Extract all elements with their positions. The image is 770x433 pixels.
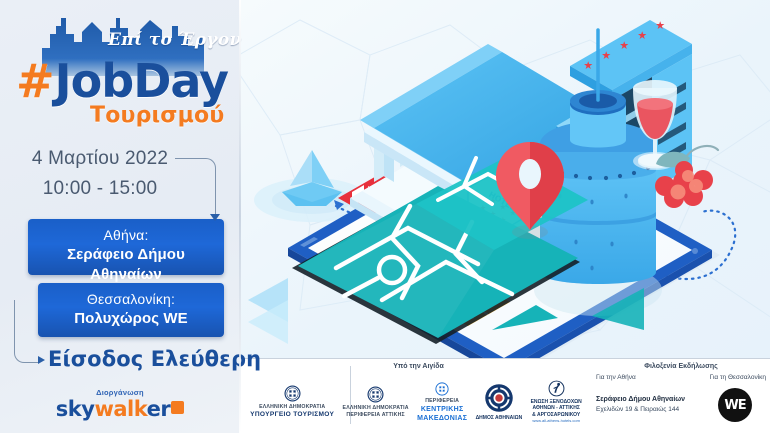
jobday-logo: Επί το Έργον #JobDay Τουρισμού xyxy=(12,8,228,130)
panel-divider xyxy=(239,0,241,433)
host-athens-label: Για την Αθήνα xyxy=(596,374,636,381)
organiser-label: Διοργάνωση xyxy=(0,388,240,397)
logo-name: JobDay xyxy=(55,54,228,108)
sponsor-line1: ΕΛΛΗΝΙΚΗ ΔΗΜΟΚΡΑΤΙΑ xyxy=(259,404,325,411)
city-of-athens-crest-icon xyxy=(484,383,514,413)
left-info-panel: Επί το Έργον #JobDay Τουρισμού 4 Μαρτίου… xyxy=(0,0,240,433)
host-thessaloniki-label: Για τη Θεσσαλονίκη xyxy=(710,374,766,381)
aegis-label: Υπό την Αιγίδα xyxy=(246,363,591,370)
venue-city-athens: Αθήνα: xyxy=(34,226,218,245)
event-time: 10:00 - 15:00 xyxy=(0,178,200,200)
sponsor-region-central-macedonia: ΠΕΡΙΦΕΡΕΙΑ ΚΕΝΤΡΙΚΗΣ ΜΑΚΕΔΟΝΙΑΣ xyxy=(417,382,467,423)
skywalker-part1: sky xyxy=(56,397,95,421)
sponsor-line1: ΕΛΛΗΝΙΚΗ ΔΗΜΟΚΡΑΤΙΑ xyxy=(343,405,409,412)
host-label: Φιλοξενία Εκδήλωσης xyxy=(596,363,766,370)
sponsor-url[interactable]: www.all-athens-hotels.com xyxy=(532,418,580,424)
host-address: Σεράφειο Δήμου Αθηναίων Εχελιδών 19 & Πε… xyxy=(596,395,706,415)
entry-connector-arrow xyxy=(38,356,45,364)
we-venue-logo: WE xyxy=(718,388,752,422)
sponsor-line2: ΚΕΝΤΡΙΚΗΣ xyxy=(421,405,464,414)
sponsor-line1: ΔΗΜΟΣ ΑΘΗΝΑΙΩΝ xyxy=(476,415,523,422)
venue-card-thessaloniki[interactable]: Θεσσαλονίκη: Πολυχώρος WE xyxy=(38,283,224,337)
free-entry-text: Είσοδος Ελεύθερη xyxy=(48,347,261,371)
sponsor-logo-row: ΕΛΛΗΝΙΚΗ ΔΗΜΟΚΡΑΤΙΑ ΥΠΟΥΡΓΕΙΟ ΤΟΥΡΙΣΜΟΥ … xyxy=(246,374,586,430)
illustration-panel: HOTEL xyxy=(240,0,770,358)
logo-wordmark: #JobDay xyxy=(16,56,226,106)
venue-city-thessaloniki: Θεσσαλονίκη: xyxy=(44,290,218,309)
sponsor-region-of-attica: ΕΛΛΗΝΙΚΗ ΔΗΜΟΚΡΑΤΙΑ ΠΕΡΙΦΕΡΕΙΑ ΑΤΤΙΚΗΣ xyxy=(343,386,409,419)
event-date: 4 Μαρτίου 2022 xyxy=(0,148,200,170)
skywalker-dot-icon xyxy=(171,401,184,414)
poster-root: HOTEL xyxy=(0,0,770,433)
entry-connector-bracket xyxy=(14,300,39,363)
skywalker-part3: er xyxy=(147,397,171,421)
venue-place-athens: Σεράφειο Δήμου Αθηναίων xyxy=(34,245,218,285)
venue-card-athens[interactable]: Αθήνα: Σεράφειο Δήμου Αθηναίων xyxy=(28,219,224,275)
logo-hash: # xyxy=(16,54,55,108)
sponsor-ministry-of-tourism: ΕΛΛΗΝΙΚΗ ΔΗΜΟΚΡΑΤΙΑ ΥΠΟΥΡΓΕΙΟ ΤΟΥΡΙΣΜΟΥ xyxy=(250,385,334,420)
venue-place-thessaloniki: Πολυχώρος WE xyxy=(44,309,218,329)
skywalker-logo[interactable]: skywalker xyxy=(0,397,240,421)
sponsor-city-of-athens: ΔΗΜΟΣ ΑΘΗΝΑΙΩΝ xyxy=(476,383,523,422)
attica-region-crest-icon xyxy=(367,386,384,403)
sponsor-line1: ΠΕΡΙΦΕΡΕΙΑ xyxy=(425,398,459,405)
address-line2: Εχελιδών 19 & Πειραιώς 144 xyxy=(596,405,706,415)
address-line1: Σεράφειο Δήμου Αθηναίων xyxy=(596,395,706,405)
host-columns: Για την Αθήνα Για τη Θεσσαλονίκη xyxy=(596,374,766,381)
central-macedonia-crest-icon xyxy=(435,382,449,396)
sponsor-line3: ΜΑΚΕΔΟΝΙΑΣ xyxy=(417,414,467,423)
sponsor-line2: ΠΕΡΙΦΕΡΕΙΑ ΑΤΤΙΚΗΣ xyxy=(346,412,404,419)
logo-tagline: Επί το Έργον xyxy=(108,30,242,50)
skywalker-part2: walk xyxy=(94,397,146,421)
we-venue-logo-text: WE xyxy=(724,398,745,413)
date-connector-arrow xyxy=(210,214,220,221)
logo-subtitle: Τουρισμού xyxy=(90,103,224,128)
sponsor-hotel-association: ΕΝΩΣΗ ΞΕΝΟΔΟΧΩΝ ΑΘΗΝΩΝ - ΑΤΤΙΚΗΣ & ΑΡΓΟΣ… xyxy=(531,380,582,425)
tourism-illustration: HOTEL xyxy=(240,0,770,358)
date-connector-bracket xyxy=(175,158,216,219)
hotel-association-crest-icon xyxy=(548,380,565,397)
greek-republic-crest-icon xyxy=(284,385,301,402)
sponsor-line2: ΥΠΟΥΡΓΕΙΟ ΤΟΥΡΙΣΜΟΥ xyxy=(250,411,334,420)
